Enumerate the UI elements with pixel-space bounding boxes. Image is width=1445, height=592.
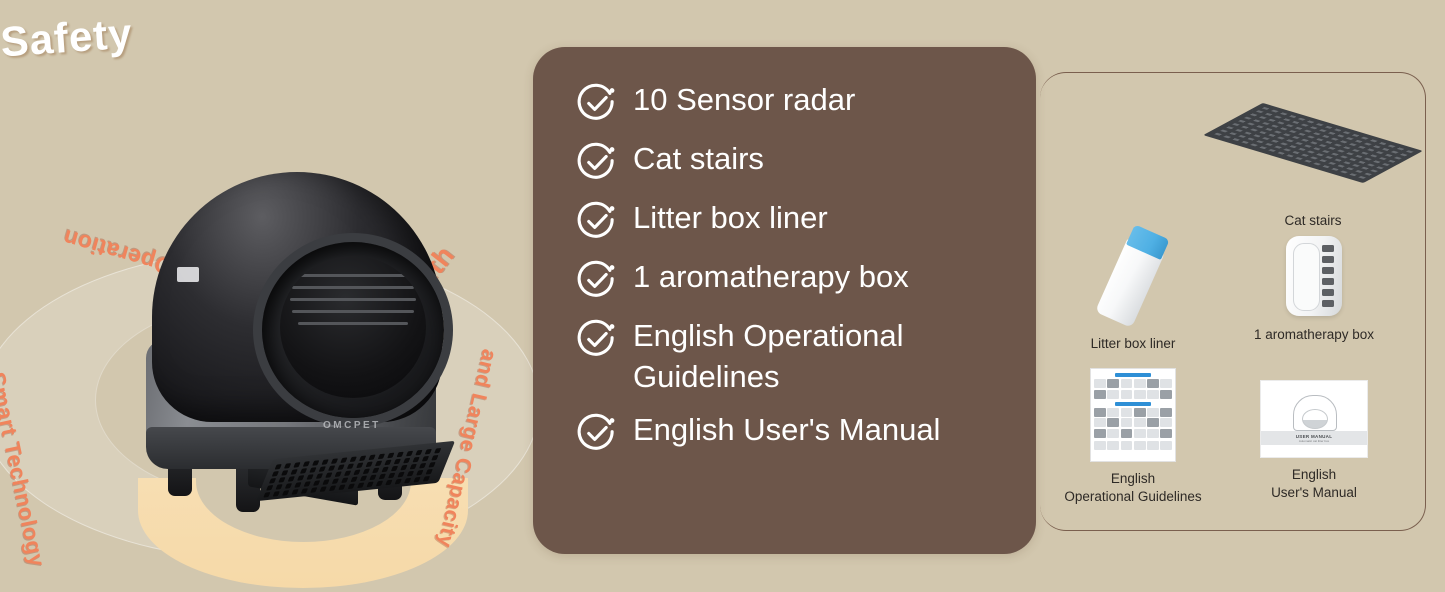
check-circle-icon	[575, 258, 619, 302]
accessory-caption: 1 aromatherapy box	[1252, 326, 1376, 344]
accessory-aromatherapy-box: 1 aromatherapy box	[1252, 236, 1376, 344]
feature-label: Cat stairs	[633, 138, 764, 180]
litter-robot-product-image: OMCPET	[140, 172, 465, 512]
feature-item: English User's Manual	[575, 409, 1012, 457]
accessory-caption: English Operational Guidelines	[1060, 470, 1206, 506]
feature-label: 10 Sensor radar	[633, 79, 855, 121]
check-circle-icon	[575, 199, 619, 243]
feature-item: 1 aromatherapy box	[575, 256, 1012, 304]
feature-label: Litter box liner	[633, 197, 828, 239]
check-circle-icon	[575, 81, 619, 125]
arc-label-safety: Safety	[0, 0, 534, 67]
feature-item: 10 Sensor radar	[575, 79, 1012, 127]
manual-cover-title: USER MANUAL	[1261, 431, 1367, 439]
product-brand-logo: OMCPET	[323, 420, 381, 431]
accessory-operational-guidelines: English Operational Guidelines	[1060, 368, 1206, 506]
aromatherapy-box-image	[1286, 236, 1342, 316]
feature-label: English Operational Guidelines	[633, 315, 993, 398]
accessory-caption: Cat stairs	[1218, 212, 1408, 230]
check-circle-icon	[575, 411, 619, 455]
feature-item: English Operational Guidelines	[575, 315, 1012, 398]
product-drum-opening	[262, 242, 444, 418]
accessory-caption: Litter box liner	[1075, 335, 1191, 353]
accessory-litter-box-liner: Litter box liner	[1075, 228, 1191, 353]
feature-label: 1 aromatherapy box	[633, 256, 909, 298]
product-drum-interior	[280, 256, 426, 398]
accessory-caption: English User's Manual	[1255, 466, 1373, 502]
check-circle-icon	[575, 317, 619, 361]
feature-item: Cat stairs	[575, 138, 1012, 186]
hero-section: Quiet Operation Smart Technology With an…	[0, 0, 533, 592]
feature-list-panel: 10 Sensor radar Cat stairs Litter box li…	[533, 47, 1036, 554]
feature-list: 10 Sensor radar Cat stairs Litter box li…	[575, 79, 1012, 468]
operational-guidelines-image	[1090, 368, 1176, 462]
litter-box-liner-image	[1095, 224, 1170, 327]
feature-item: Litter box liner	[575, 197, 1012, 245]
manual-cover-illustration	[1293, 395, 1337, 431]
users-manual-image: USER MANUAL Automatic cat litter box	[1260, 380, 1368, 458]
product-feature-banner: Quiet Operation Smart Technology With an…	[0, 0, 1445, 592]
cat-stairs-mat-image	[1203, 103, 1423, 183]
check-circle-icon	[575, 140, 619, 184]
accessory-users-manual: USER MANUAL Automatic cat litter box Eng…	[1255, 380, 1373, 502]
manual-cover-subtitle: Automatic cat litter box	[1261, 439, 1367, 443]
feature-label: English User's Manual	[633, 409, 940, 451]
accessory-cat-stairs: Cat stairs	[1218, 108, 1408, 230]
product-sensor	[177, 267, 199, 282]
aromatherapy-faceplate	[1293, 243, 1320, 311]
manual-cover-band: USER MANUAL Automatic cat litter box	[1261, 431, 1367, 445]
